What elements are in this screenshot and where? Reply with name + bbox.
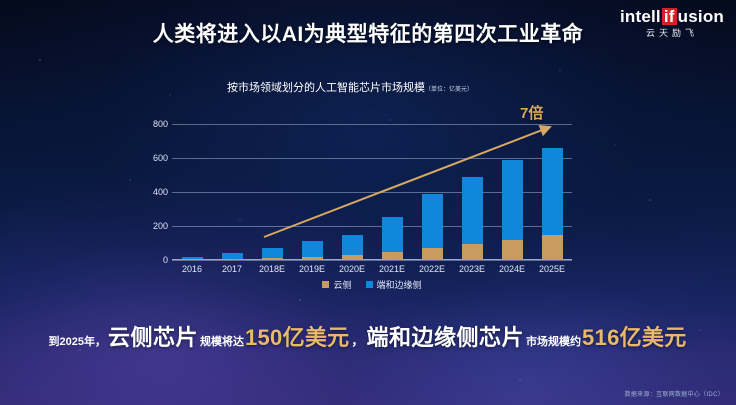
bar-slot (372, 124, 412, 260)
bar-segment-edge (262, 248, 283, 258)
bar-segment-edge (502, 160, 523, 240)
data-source-note: 数据来源：互联网数据中心（IDC） (625, 389, 724, 398)
bar-segment-cloud (302, 257, 323, 260)
bar-segment-edge (422, 194, 443, 248)
y-axis-tick-label: 400 (124, 187, 168, 197)
legend-swatch-icon (322, 281, 329, 288)
slide-headline: 人类将进入以AI为典型特征的第四次工业革命 (0, 18, 736, 48)
bar-slot (452, 124, 492, 260)
bar-segment-cloud (182, 259, 203, 260)
summary-statement: 到2025年， 云侧芯片 规模将达 150亿美元 ， 端和边缘侧芯片 市场规模约… (0, 320, 736, 352)
chart-legend: 云侧端和边缘侧 (172, 278, 572, 291)
statement-comma: ， (351, 332, 363, 349)
x-axis-tick-label: 2018E (252, 264, 292, 274)
bar-slot (252, 124, 292, 260)
statement-term-cloud-chip: 云侧芯片 (108, 320, 198, 352)
legend-label: 端和边缘侧 (377, 278, 422, 291)
stacked-bar[interactable] (182, 257, 203, 260)
chart-bars (172, 124, 572, 260)
chart-title-text: 按市场领域划分的人工智能芯片市场规模 (227, 82, 425, 94)
chart-title: 按市场领域划分的人工智能芯片市场规模（单位：亿美元） (120, 82, 580, 95)
statement-value-cloud: 150亿美元 (245, 320, 350, 352)
y-axis-tick-label: 800 (124, 119, 168, 129)
bar-segment-cloud (262, 258, 283, 260)
stacked-bar[interactable] (342, 235, 363, 260)
chart-container: 按市场领域划分的人工智能芯片市场规模（单位：亿美元） 0200400600800… (120, 82, 580, 292)
bar-segment-cloud (422, 248, 443, 260)
x-axis-tick-label: 2016 (172, 264, 212, 274)
bar-slot (412, 124, 452, 260)
bar-segment-edge (302, 241, 323, 256)
bar-slot (332, 124, 372, 260)
chart-x-axis-labels: 201620172018E2019E2020E2021E2022E2023E20… (172, 264, 572, 274)
bar-segment-cloud (222, 259, 243, 260)
y-axis-tick-label: 200 (124, 221, 168, 231)
bar-segment-edge (382, 217, 403, 252)
x-axis-tick-label: 2020E (332, 264, 372, 274)
stacked-bar[interactable] (222, 253, 243, 260)
chart-unit-note: （单位：亿美元） (425, 87, 473, 93)
legend-item[interactable]: 端和边缘侧 (366, 278, 422, 291)
stacked-bar[interactable] (262, 248, 283, 260)
bar-segment-cloud (342, 255, 363, 260)
y-axis-tick-label: 0 (124, 255, 168, 265)
bar-segment-cloud (382, 252, 403, 260)
bar-slot (212, 124, 252, 260)
bar-segment-edge (342, 235, 363, 255)
x-axis-tick-label: 2023E (452, 264, 492, 274)
bar-segment-cloud (502, 240, 523, 260)
x-axis-tick-label: 2017 (212, 264, 252, 274)
legend-item[interactable]: 云侧 (322, 278, 351, 291)
statement-term-edge-chip: 端和边缘侧芯片 (367, 320, 525, 352)
x-axis-tick-label: 2022E (412, 264, 452, 274)
gridline (172, 260, 572, 261)
statement-mid-1: 规模将达 (200, 333, 244, 349)
bar-segment-edge (462, 177, 483, 244)
legend-label: 云侧 (333, 278, 351, 291)
bar-slot (492, 124, 532, 260)
legend-swatch-icon (366, 281, 373, 288)
slide-root: intellifusion 云天励飞 人类将进入以AI为典型特征的第四次工业革命… (0, 0, 736, 405)
x-axis-tick-label: 2019E (292, 264, 332, 274)
y-axis-tick-label: 600 (124, 153, 168, 163)
bar-slot (292, 124, 332, 260)
stacked-bar[interactable] (382, 217, 403, 260)
bar-slot (172, 124, 212, 260)
stacked-bar[interactable] (542, 148, 563, 260)
chart-plot-area: 0200400600800 (172, 124, 572, 260)
x-axis-tick-label: 2021E (372, 264, 412, 274)
x-axis-tick-label: 2024E (492, 264, 532, 274)
bar-segment-edge (542, 148, 563, 235)
x-axis-tick-label: 2025E (532, 264, 572, 274)
stacked-bar[interactable] (302, 241, 323, 260)
stacked-bar[interactable] (462, 177, 483, 260)
bar-segment-cloud (542, 235, 563, 261)
statement-mid-2: 市场规模约 (526, 333, 581, 349)
bar-slot (532, 124, 572, 260)
stacked-bar[interactable] (502, 160, 523, 260)
stacked-bar[interactable] (422, 194, 443, 260)
statement-value-edge: 516亿美元 (582, 320, 687, 352)
bar-segment-cloud (462, 244, 483, 260)
statement-lead: 到2025年， (48, 333, 105, 349)
growth-multiplier-label: 7倍 (520, 102, 543, 123)
